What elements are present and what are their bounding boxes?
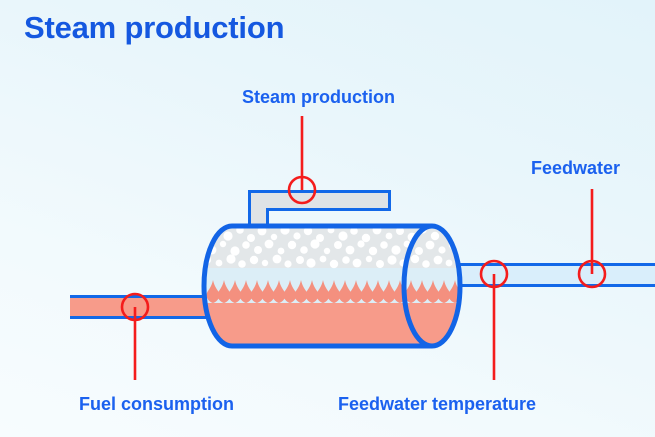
- boiler-vessel: [190, 220, 480, 353]
- diagram-canvas: Steam production: [0, 0, 655, 437]
- label-feedwater-temperature: Feedwater temperature: [338, 394, 536, 415]
- label-fuel-consumption: Fuel consumption: [79, 394, 234, 415]
- steam-production-point[interactable]: [289, 116, 315, 203]
- label-steam-production: Steam production: [242, 87, 395, 108]
- steam-boiler-schematic: [0, 0, 655, 437]
- feedwater-pipe: [440, 264, 655, 286]
- label-feedwater: Feedwater: [531, 158, 620, 179]
